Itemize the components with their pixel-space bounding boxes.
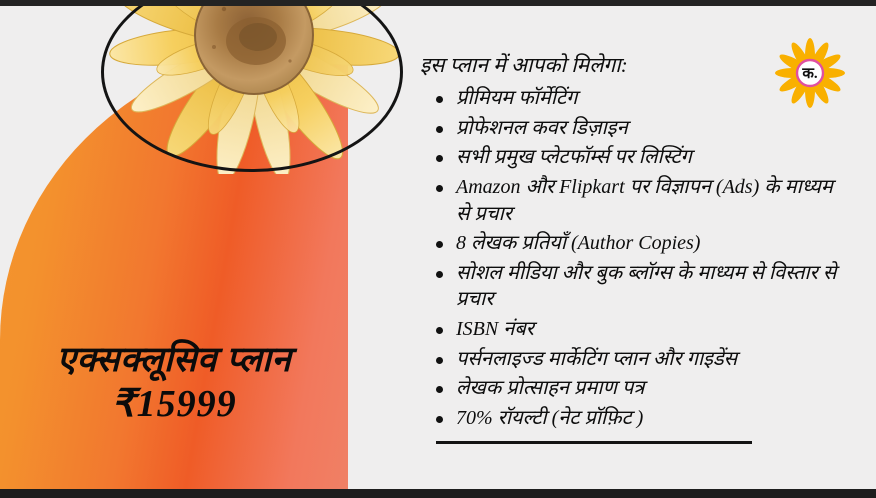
- list-item: Amazon और Flipkart पर विज्ञापन (Ads) के …: [436, 174, 844, 227]
- list-item: सोशल मीडिया और बुक ब्लॉग्स के माध्यम से …: [436, 260, 844, 313]
- plan-amount: ₹15999: [0, 383, 348, 426]
- plan-label: एक्सक्लूसिव प्लान: [0, 340, 348, 379]
- features-list: प्रीमियम फॉर्मेटिंग प्रोफेशनल कवर डिज़ाइ…: [414, 85, 844, 431]
- brand-logo: क.: [773, 36, 847, 110]
- list-item: 70% रॉयल्टी (नेट प्रॉफ़िट ): [436, 405, 844, 432]
- list-item: ISBN नंबर: [436, 316, 844, 343]
- section-divider: [436, 441, 752, 444]
- list-item: लेखक प्रोत्साहन प्रमाण पत्र: [436, 375, 844, 402]
- list-item: प्रोफेशनल कवर डिज़ाइन: [436, 115, 844, 142]
- list-item: सभी प्रमुख प्लेटफॉर्म्स पर लिस्टिंग: [436, 144, 844, 171]
- list-item: 8 लेखक प्रतियाँ (Author Copies): [436, 230, 844, 257]
- brand-logo-letter: क.: [801, 66, 818, 82]
- bottom-bar: [0, 489, 876, 498]
- features-panel: इस प्लान में आपको मिलेगा: प्रीमियम फॉर्म…: [414, 52, 844, 444]
- top-bar: [0, 0, 876, 6]
- list-item: पर्सनलाइज्ड मार्केटिंग प्लान और गाइडेंस: [436, 346, 844, 373]
- slide-canvas: क. एक्सक्लूसिव प्लान ₹15999 इस प्लान में…: [0, 0, 876, 498]
- price-block: एक्सक्लूसिव प्लान ₹15999: [0, 340, 348, 426]
